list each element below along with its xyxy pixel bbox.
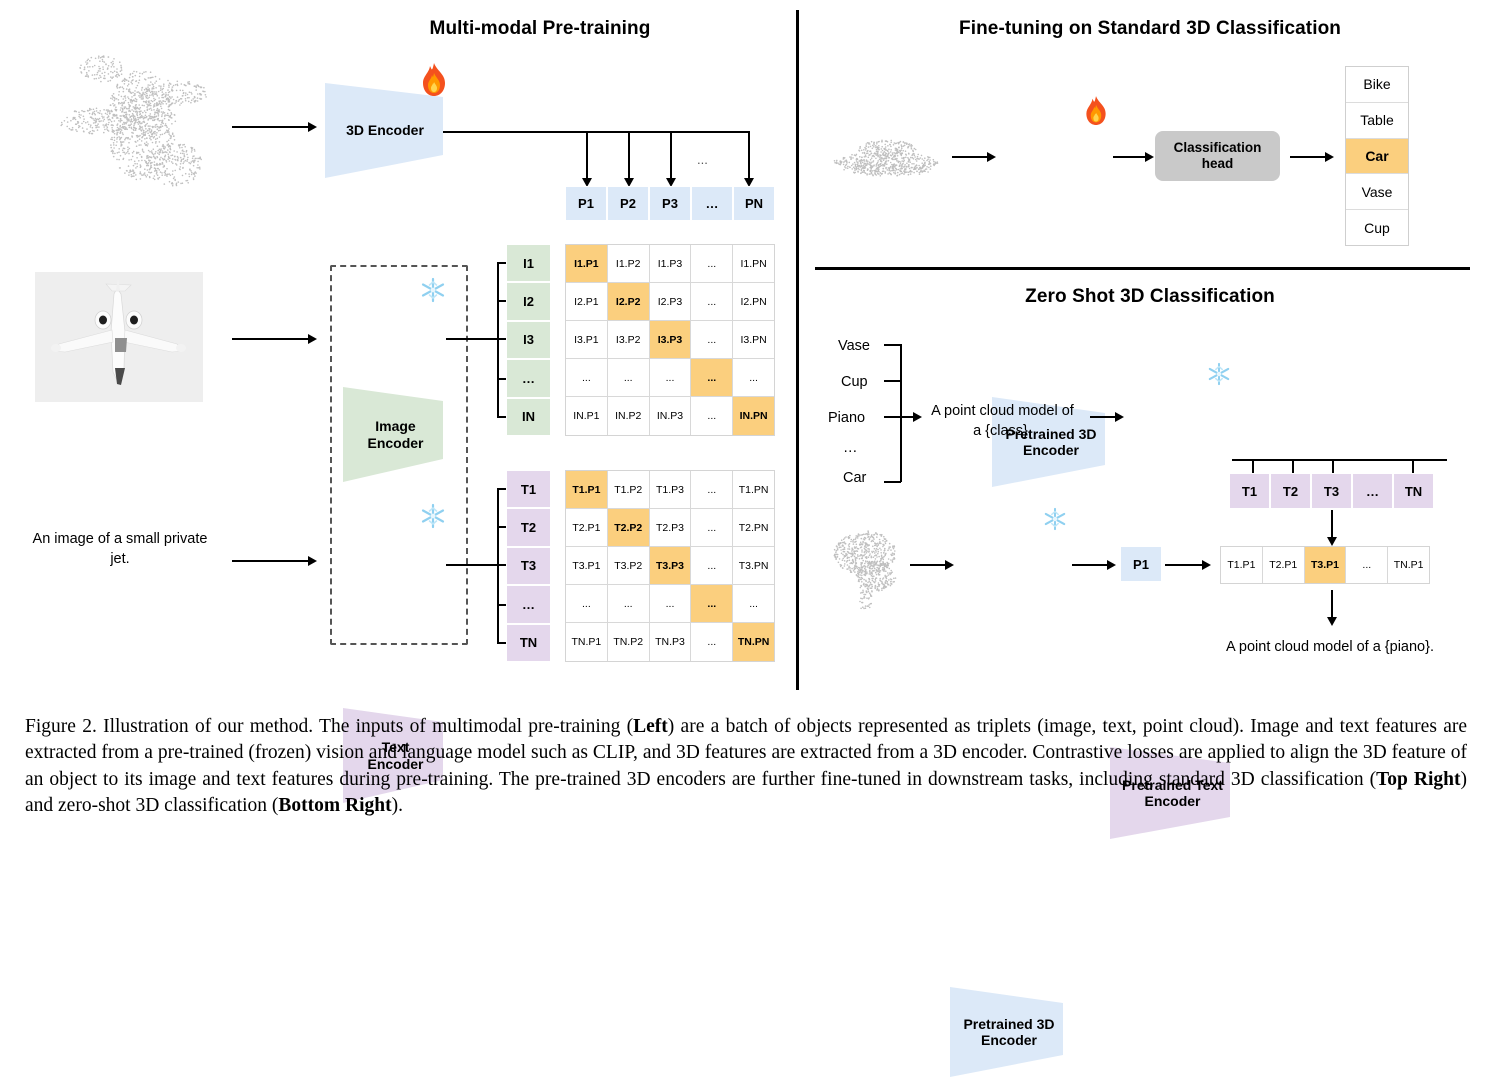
image-matrix-cell: ... bbox=[691, 321, 733, 359]
zs-score-cell: TN.P1 bbox=[1388, 547, 1429, 583]
arrowhead bbox=[1202, 560, 1211, 570]
arrow-prompt-to-text-encoder bbox=[1090, 416, 1118, 418]
arrowhead bbox=[945, 560, 954, 570]
class-list-item[interactable]: Vase bbox=[1346, 174, 1408, 210]
arrow-head-to-classes bbox=[1290, 156, 1328, 158]
candidate-class-vase[interactable]: Vase bbox=[838, 338, 870, 354]
image-matrix-cell: ... bbox=[691, 397, 733, 435]
car-point-cloud bbox=[828, 128, 948, 188]
arrowhead bbox=[1327, 617, 1337, 626]
text-matrix-cell: T3.P1 bbox=[566, 547, 608, 585]
class-bracket-tick-car bbox=[884, 481, 901, 483]
text-matrix-cell: ... bbox=[733, 585, 774, 623]
arrowhead bbox=[308, 556, 317, 566]
class-list-item[interactable]: Table bbox=[1346, 103, 1408, 139]
text-matrix-cell: TN.P3 bbox=[650, 623, 692, 661]
image-matrix-cell: ... bbox=[733, 359, 774, 397]
figure-caption: Figure 2. Illustration of our method. Th… bbox=[25, 714, 1467, 819]
arrow-scores-to-result bbox=[1331, 590, 1333, 620]
text-matrix-cell: ... bbox=[691, 585, 733, 623]
text-matrix-cell: ... bbox=[566, 585, 608, 623]
branch-p3 bbox=[670, 131, 672, 181]
text-point-similarity-matrix: T1.P1T1.P2T1.P3...T1.PNT2.P1T2.P2T2.P3..… bbox=[565, 470, 775, 662]
token-in[interactable]: IN bbox=[506, 398, 551, 436]
text-matrix-cell: TN.P1 bbox=[566, 623, 608, 661]
zs-token-t1[interactable]: T1 bbox=[1229, 473, 1270, 509]
image-matrix-cell: I2.P1 bbox=[566, 283, 608, 321]
class-list-item[interactable]: Bike bbox=[1346, 67, 1408, 103]
zs-token-t3[interactable]: T3 bbox=[1311, 473, 1352, 509]
image-matrix-cell: I3.P1 bbox=[566, 321, 608, 359]
figure-canvas: Multi-modal Pre-training bbox=[0, 0, 1490, 700]
caption-bold-topright: Top Right bbox=[1376, 769, 1460, 790]
image-matrix-cell: I1.PN bbox=[733, 245, 774, 283]
arrow-piano-to-encoder bbox=[910, 564, 948, 566]
token-tn[interactable]: TN bbox=[506, 624, 551, 662]
image-point-similarity-matrix: I1.P1I1.P2I1.P3...I1.PNI2.P1I2.P2I2.P3..… bbox=[565, 244, 775, 436]
bottom-right-panel-title: Zero Shot 3D Classification bbox=[880, 286, 1420, 308]
text-input-value: An image of a small private jet. bbox=[33, 531, 208, 567]
text-encoder-zs-line2: Encoder bbox=[1144, 793, 1200, 809]
classification-head[interactable]: Classification head bbox=[1155, 131, 1280, 181]
snowflake-icon bbox=[420, 277, 446, 303]
p-token-row: P1 P2 P3 … PN bbox=[565, 186, 775, 221]
arrow-pointcloud-to-encoder bbox=[232, 126, 310, 128]
zs-score-cell: ... bbox=[1346, 547, 1388, 583]
text-matrix-cell: ... bbox=[691, 623, 733, 661]
image-matrix-cell: ... bbox=[691, 283, 733, 321]
arrowhead bbox=[1115, 412, 1124, 422]
arrow-encoder-to-p1 bbox=[1072, 564, 1110, 566]
text-matrix-cell: TN.PN bbox=[733, 623, 774, 661]
image-matrix-cell: ... bbox=[566, 359, 608, 397]
zs-score-row-inner: T1.P1T2.P1T3.P1...TN.P1 bbox=[1221, 547, 1429, 583]
image-matrix-row: I3.P1I3.P2I3.P3...I3.PN bbox=[566, 321, 774, 359]
snowflake-icon bbox=[1043, 507, 1067, 531]
class-prediction-list: BikeTableCarVaseCup bbox=[1345, 66, 1409, 246]
image-matrix-cell: ... bbox=[691, 245, 733, 283]
image-matrix-cell: IN.P2 bbox=[608, 397, 650, 435]
token-pn[interactable]: PN bbox=[733, 186, 775, 221]
image-matrix-cell: I1.P2 bbox=[608, 245, 650, 283]
fire-icon bbox=[1082, 95, 1110, 127]
text-matrix-cell: T3.P3 bbox=[650, 547, 692, 585]
arrow-image-to-encoder bbox=[232, 338, 310, 340]
caption-bold-bottomright: Bottom Right bbox=[278, 795, 391, 816]
text-matrix-cell: ... bbox=[608, 585, 650, 623]
class-bracket-spine bbox=[900, 344, 902, 482]
token-t1[interactable]: T1 bbox=[506, 470, 551, 508]
t-token-column: T1 T2 T3 … TN bbox=[506, 470, 551, 662]
caption-part1: Figure 2. Illustration of our method. Th… bbox=[25, 716, 633, 737]
class-list-item[interactable]: Cup bbox=[1346, 210, 1408, 245]
class-bracket-tick-piano bbox=[884, 416, 901, 418]
image-matrix-cell: I3.P3 bbox=[650, 321, 692, 359]
encoder-image-label-line2: Encoder bbox=[367, 435, 423, 451]
image-matrix-cell: I3.P2 bbox=[608, 321, 650, 359]
top-right-panel-title: Fine-tuning on Standard 3D Classificatio… bbox=[850, 18, 1450, 40]
image-matrix-cell: IN.PN bbox=[733, 397, 774, 435]
text-enc-out bbox=[446, 564, 498, 566]
encoder-text-label-line1: Text bbox=[382, 739, 410, 755]
arrow-car-to-encoder bbox=[952, 156, 990, 158]
branch-pn bbox=[748, 131, 750, 181]
token-t-ellipsis: … bbox=[506, 585, 551, 623]
bus-line-text bbox=[1232, 459, 1447, 461]
image-matrix-cell: ... bbox=[608, 359, 650, 397]
snowflake-icon bbox=[420, 503, 446, 529]
branch-p1 bbox=[586, 131, 588, 181]
text-encoder-zs-line1: Pretrained Text bbox=[1122, 777, 1223, 793]
arrowhead bbox=[1107, 560, 1116, 570]
token-i1[interactable]: I1 bbox=[506, 244, 551, 282]
image-matrix-cell: I1.P3 bbox=[650, 245, 692, 283]
text-matrix-cell: T2.P1 bbox=[566, 509, 608, 547]
zs-score-cell: T2.P1 bbox=[1263, 547, 1305, 583]
text-matrix-cell: ... bbox=[691, 547, 733, 585]
token-p1[interactable]: P1 bbox=[565, 186, 607, 221]
ft-encoder-line1: Pretrained 3D bbox=[1005, 426, 1096, 442]
candidate-class-cup[interactable]: Cup bbox=[841, 374, 868, 390]
text-matrix-cell: T1.PN bbox=[733, 471, 774, 509]
text-matrix-cell: T2.P2 bbox=[608, 509, 650, 547]
text-matrix-cell: T2.P3 bbox=[650, 509, 692, 547]
zs-3d-encoder-line2: Encoder bbox=[981, 1032, 1037, 1048]
image-matrix-cell: ... bbox=[650, 359, 692, 397]
class-list-item[interactable]: Car bbox=[1346, 139, 1408, 175]
image-matrix-cell: IN.P3 bbox=[650, 397, 692, 435]
zs-score-cell: T1.P1 bbox=[1221, 547, 1263, 583]
text-input-caption: An image of a small private jet. bbox=[30, 530, 210, 569]
caption-part4: ). bbox=[392, 795, 403, 816]
text-matrix-row: T3.P1T3.P2T3.P3...T3.PN bbox=[566, 547, 774, 585]
zs-score-cell: T3.P1 bbox=[1305, 547, 1347, 583]
image-matrix-cell: I2.PN bbox=[733, 283, 774, 321]
image-matrix-row: I2.P1I2.P2I2.P3...I2.PN bbox=[566, 283, 774, 321]
image-matrix-row: I1.P1I1.P2I1.P3...I1.PN bbox=[566, 245, 774, 283]
left-panel-title: Multi-modal Pre-training bbox=[300, 18, 780, 40]
image-matrix-cell: I2.P2 bbox=[608, 283, 650, 321]
ft-encoder-line2: Encoder bbox=[1023, 442, 1079, 458]
arrow-p1-to-scores bbox=[1165, 564, 1205, 566]
encoder-3d-label: 3D Encoder bbox=[346, 122, 424, 138]
zs-token-p1[interactable]: P1 bbox=[1120, 546, 1162, 582]
arrow-encoder-to-head bbox=[1113, 156, 1148, 158]
bus-line-3d bbox=[443, 131, 750, 133]
horizontal-divider bbox=[815, 267, 1470, 270]
candidate-class-car[interactable]: Car bbox=[843, 470, 866, 486]
class-bracket-tick-cup bbox=[884, 380, 901, 382]
snowflake-icon bbox=[1207, 362, 1231, 386]
arrowhead bbox=[1325, 152, 1334, 162]
encoder-image-label-line1: Image bbox=[375, 418, 415, 434]
zs-token-tn[interactable]: TN bbox=[1393, 473, 1434, 509]
class-head-line1: Classification bbox=[1174, 140, 1262, 155]
text-matrix-cell: TN.P2 bbox=[608, 623, 650, 661]
zs-token-t2[interactable]: T2 bbox=[1270, 473, 1311, 509]
encoder-image[interactable]: Image Encoder bbox=[343, 387, 448, 482]
zs-token-t-ellipsis: … bbox=[1352, 473, 1393, 509]
zs-score-row: T1.P1T2.P1T3.P1...TN.P1 bbox=[1220, 546, 1430, 584]
arrowhead bbox=[308, 122, 317, 132]
image-matrix-cell: IN.P1 bbox=[566, 397, 608, 435]
zs-t-token-row: T1 T2 T3 … TN bbox=[1229, 473, 1434, 509]
image-matrix-cell: ... bbox=[691, 359, 733, 397]
text-matrix-cell: T2.PN bbox=[733, 509, 774, 547]
token-p2[interactable]: P2 bbox=[607, 186, 649, 221]
pretrained-3d-encoder-zeroshot[interactable]: Pretrained 3D Encoder bbox=[950, 987, 1068, 1077]
image-enc-out bbox=[446, 338, 498, 340]
text-matrix-cell: ... bbox=[691, 471, 733, 509]
text-matrix-cell: ... bbox=[691, 509, 733, 547]
text-matrix-cell: T3.PN bbox=[733, 547, 774, 585]
arrowhead bbox=[987, 152, 996, 162]
airplane-image bbox=[35, 272, 203, 402]
arrowhead bbox=[1145, 152, 1154, 162]
text-matrix-cell: ... bbox=[650, 585, 692, 623]
text-matrix-row: TN.P1TN.P2TN.P3...TN.PN bbox=[566, 623, 774, 661]
token-t2[interactable]: T2 bbox=[506, 508, 551, 546]
image-matrix-row: ............... bbox=[566, 359, 774, 397]
text-matrix-row: T1.P1T1.P2T1.P3...T1.PN bbox=[566, 471, 774, 509]
token-t3[interactable]: T3 bbox=[506, 547, 551, 585]
text-matrix-cell: T3.P2 bbox=[608, 547, 650, 585]
vertical-divider bbox=[796, 10, 799, 690]
text-matrix-row: ............... bbox=[566, 585, 774, 623]
arrow-tokens-to-scores bbox=[1331, 510, 1333, 540]
class-head-line2: head bbox=[1202, 156, 1234, 171]
piano-point-cloud bbox=[830, 525, 915, 615]
image-matrix-cell: I1.P1 bbox=[566, 245, 608, 283]
class-bracket-tick-vase bbox=[884, 344, 901, 346]
token-p-ellipsis: … bbox=[691, 186, 733, 221]
token-i-ellipsis: … bbox=[506, 359, 551, 397]
arrow-text-to-encoder bbox=[232, 560, 310, 562]
token-i3[interactable]: I3 bbox=[506, 321, 551, 359]
token-p3[interactable]: P3 bbox=[649, 186, 691, 221]
zs-3d-encoder-line1: Pretrained 3D bbox=[963, 1016, 1054, 1032]
i-token-column: I1 I2 I3 … IN bbox=[506, 244, 551, 436]
branch-ellipsis: ... bbox=[697, 152, 708, 167]
arrowhead bbox=[308, 334, 317, 344]
image-matrix-cell: I3.PN bbox=[733, 321, 774, 359]
caption-bold-left: Left bbox=[633, 716, 668, 737]
encoder-text-label-line2: Encoder bbox=[367, 756, 423, 772]
text-matrix-cell: T1.P3 bbox=[650, 471, 692, 509]
arrowhead bbox=[1327, 537, 1337, 546]
branch-p2 bbox=[628, 131, 630, 181]
text-matrix-row: T2.P1T2.P2T2.P3...T2.PN bbox=[566, 509, 774, 547]
image-matrix-row: IN.P1IN.P2IN.P3...IN.PN bbox=[566, 397, 774, 435]
zs-result-text: A point cloud model of a {piano}. bbox=[1185, 638, 1475, 658]
image-matrix-cell: I2.P3 bbox=[650, 283, 692, 321]
candidate-class-piano[interactable]: Piano bbox=[828, 410, 865, 426]
text-matrix-cell: T1.P2 bbox=[608, 471, 650, 509]
token-i2[interactable]: I2 bbox=[506, 282, 551, 320]
candidate-class-ellipsis: … bbox=[843, 440, 858, 456]
prompt-line1: A point cloud model of bbox=[931, 403, 1074, 419]
fire-icon bbox=[418, 62, 450, 98]
airplane-point-cloud bbox=[28, 50, 243, 210]
text-matrix-cell: T1.P1 bbox=[566, 471, 608, 509]
